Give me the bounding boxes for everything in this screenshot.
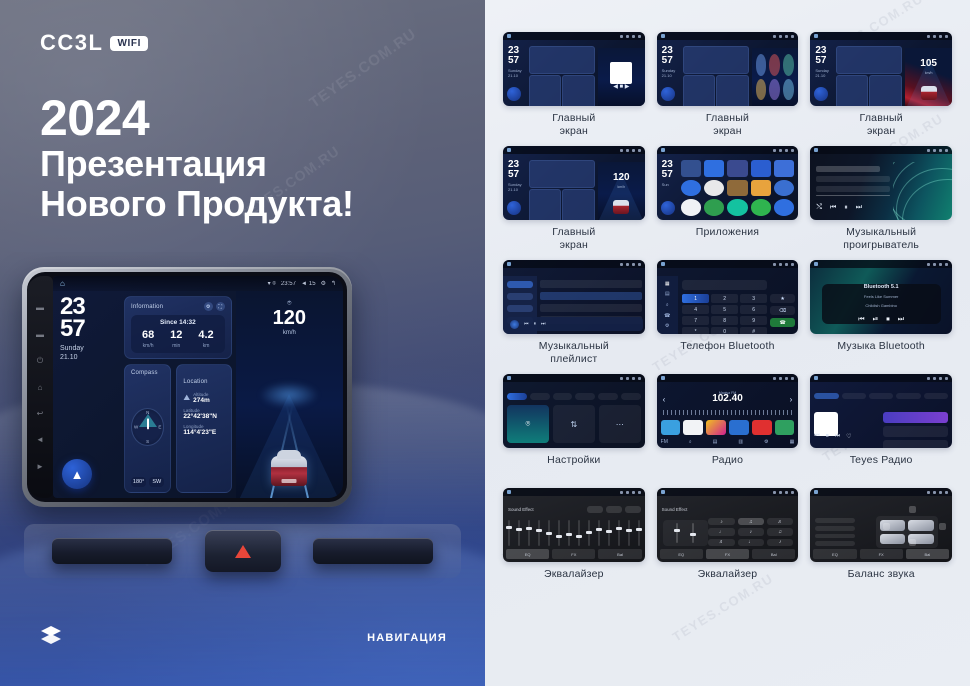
location-title: Location: [183, 379, 207, 385]
dial-key: 5: [711, 305, 738, 314]
clock-date: Sunday21.10: [662, 68, 676, 78]
frequency-scale[interactable]: [663, 410, 793, 415]
eq-icon: ▥: [738, 439, 743, 445]
clock-widget: 2357: [662, 46, 673, 65]
dial-key: 7: [682, 316, 709, 325]
clock-widget: 2357: [662, 160, 673, 179]
stop-icon: ⏹: [826, 433, 829, 440]
rail-button-mode[interactable]: ▬: [35, 330, 46, 339]
option-right: [815, 541, 855, 546]
status-bar: [503, 488, 645, 496]
next-icon: ⏭: [856, 204, 862, 212]
screenshot-gallery: TEYES.COM.RU TEYES.COM.RU TEYES.COM.RU T…: [485, 0, 970, 686]
head-unit-screen[interactable]: ⌂ ▾ ⌾ 23:57 ◄15 ⚙ ↰ 23 57: [53, 276, 343, 498]
caption: Музыка Bluetooth: [837, 340, 925, 368]
tab-eq: EQ: [506, 549, 549, 559]
player-controls[interactable]: ⤭⏮ ⏸⏭: [816, 204, 862, 212]
speed-unit: km/h: [283, 330, 296, 336]
car-model-3d: [271, 456, 307, 486]
contacts-icon: ▤: [665, 291, 670, 297]
volume-up-icon[interactable]: ►: [35, 462, 46, 471]
bluetooth-player-card: Bluetooth 5.1 Feels Like Summer Childish…: [822, 284, 941, 324]
clock-date: 21.10: [60, 354, 118, 363]
home-widgets: 23 57 Sunday 21.10 ▲ Informatio: [53, 291, 236, 498]
sidebar-item: [507, 305, 533, 312]
tab-eq: EQ: [813, 549, 856, 559]
bluetooth-version: Bluetooth 5.1: [864, 284, 899, 290]
tab-effects: FX: [552, 549, 595, 559]
product-logo: CC3L WIFI: [40, 30, 148, 56]
caption: Главныйэкран: [552, 112, 595, 140]
navigation-arrow-icon: [814, 87, 828, 101]
thumbnail-equalizer-bands[interactable]: Sound Effect: [503, 488, 645, 562]
back-arrow-icon[interactable]: ↰: [331, 280, 336, 287]
expand-icon[interactable]: ⛶: [216, 302, 225, 311]
dial-pad[interactable]: 1 2 3 4 5 6 7 8 9 * 0 #: [682, 294, 767, 334]
track-artist: Childish Gambino: [865, 303, 897, 308]
tab-eq: EQ: [660, 549, 703, 559]
list-item: [540, 292, 642, 300]
dial-key: 3: [740, 294, 767, 303]
thumbnail-settings[interactable]: ⌾ ⇅ ⋯: [503, 374, 645, 448]
preset-station: [775, 420, 795, 435]
screen-body: 23 57 Sunday 21.10 ▲ Informatio: [53, 291, 343, 498]
arrow-right-icon[interactable]: [939, 523, 946, 530]
clock-date: Sunday21.10: [508, 68, 522, 78]
trip-stat: 12 min: [170, 330, 182, 349]
list-item: [883, 440, 948, 448]
dial-key: *: [682, 327, 709, 334]
gallery-item[interactable]: 2357 Sunday21.10 105 km/h: [810, 32, 952, 140]
trip-stat: 4.2 km: [198, 330, 213, 349]
altitude-block: Altitude 274m: [193, 392, 210, 404]
navigation-label: НАВИГАЦИЯ: [367, 632, 447, 644]
trip-stats: 68 km/h 12 min: [134, 330, 222, 349]
home-icon[interactable]: ⌂: [60, 279, 65, 288]
list-item: [883, 426, 948, 437]
power-icon[interactable]: ⏻: [35, 356, 46, 365]
band-slider: [588, 520, 590, 546]
rail-button-menu[interactable]: ▬: [35, 303, 46, 312]
preset-button: [606, 506, 622, 513]
thumbnail-playlist[interactable]: ⏮ ⏸ ⏭: [503, 260, 645, 334]
information-actions: ⚙ ⛶: [204, 302, 225, 311]
volume-down-icon[interactable]: ◄: [35, 435, 46, 444]
information-card: [683, 46, 749, 74]
compass-card: [529, 189, 561, 220]
gallery-item[interactable]: 2357 Sunday21.10 120 km/h: [503, 146, 645, 254]
status-bar: [810, 488, 952, 496]
status-bar: [657, 374, 799, 382]
dialpad-icon: ▦: [665, 281, 670, 287]
track-title: Feels Like Summer: [864, 294, 898, 299]
compass-values: 180° SW: [131, 477, 164, 487]
tab-balance: Bal: [598, 549, 641, 559]
gallery-item[interactable]: Sound Effect ♪ ♫ ♬ ♩ ♪ ♫ ♬: [657, 488, 799, 596]
gear-icon[interactable]: ⚙: [321, 280, 326, 287]
sidebar-item: [507, 281, 533, 288]
compass-west: W: [134, 424, 138, 429]
equalizer-title: Sound Effect: [508, 507, 534, 512]
back-arrow-icon[interactable]: ↩: [35, 409, 46, 418]
now-playing: ⏮⏹ ⏭♡: [814, 412, 882, 444]
band-slider: [628, 520, 630, 546]
status-bar: [810, 32, 952, 40]
band-slider: [518, 520, 520, 546]
preset-station: [752, 420, 772, 435]
settings-tiles[interactable]: ⌾ ⇅ ⋯: [507, 405, 641, 443]
compass-card: [529, 75, 561, 106]
navigation-arrow-icon[interactable]: ▲: [62, 459, 92, 489]
gallery-item[interactable]: EQ FX Bal Баланс звука: [810, 488, 952, 596]
speaker-front-right: [908, 520, 934, 531]
sidebar-item: [507, 293, 533, 300]
speaker-rear-left: [880, 534, 906, 545]
thumbnail-bluetooth-phone[interactable]: ▦ ▤ ⌕ ☎ ⚙ 1 2 3 4 5 6: [657, 260, 799, 334]
gallery-item[interactable]: ⤭⏮ ⏸⏭ Музыкальныйпроигрыватель: [810, 146, 952, 254]
band-slider: [608, 520, 610, 546]
hero-panel: TEYES.COM.RU TEYES.COM.RU TEYES.COM.RU T…: [0, 0, 485, 686]
stat-unit: km: [198, 343, 213, 349]
compass-needle: [147, 418, 149, 429]
compass-south: S: [146, 439, 149, 444]
tab-display: [553, 393, 573, 400]
location-card: [716, 75, 749, 106]
caption: Приложения: [696, 226, 759, 254]
caption: Настройки: [547, 454, 600, 482]
compass-bearing: SW: [149, 477, 164, 487]
volume-indicator[interactable]: ◄15: [301, 281, 316, 287]
tab-system: [575, 393, 595, 400]
layers-icon: [40, 625, 62, 650]
teyes-tabs[interactable]: [814, 393, 948, 399]
road-glow: [259, 382, 319, 408]
caption: Телефон Bluetooth: [680, 340, 774, 368]
list-item: [816, 166, 879, 172]
speed-unit: km/h: [925, 71, 933, 75]
band-slider: [538, 520, 540, 546]
compass-north: N: [146, 410, 149, 415]
next-icon: ⏭: [541, 321, 546, 327]
preset-grid[interactable]: ♪ ♫ ♬ ♩ ♪ ♫ ♬ ♩ ♪: [708, 518, 793, 546]
preset-station: [706, 420, 726, 435]
information-header: Information ⚙ ⛶: [131, 302, 225, 311]
preset-button: [587, 506, 603, 513]
hazard-button[interactable]: [205, 530, 281, 572]
information-title: Information: [131, 304, 163, 310]
widget-cards: Information ⚙ ⛶ Since 14:32: [124, 296, 232, 493]
preset-station: [729, 420, 749, 435]
compass-card: [683, 75, 715, 106]
preset-tile: ♩: [708, 528, 734, 535]
preset-tile: ♩: [738, 539, 764, 546]
band-slider: [548, 520, 550, 546]
equalizer-toolbar[interactable]: EQ FX Bal: [506, 549, 642, 559]
thumbnail-home-screen[interactable]: 2357 Sunday21.10 ◀ ■ ▶: [503, 32, 645, 106]
gear-icon[interactable]: ⚙: [204, 302, 213, 311]
gallery-item[interactable]: 2357 Sunday21.10: [657, 32, 799, 140]
stop-icon: ⏹: [886, 316, 890, 324]
caption: Главныйэкран: [552, 226, 595, 254]
band-slider: [568, 520, 570, 546]
track-list: [816, 166, 890, 196]
clock-widget: 2357: [508, 46, 519, 65]
home-icon[interactable]: ⌂: [35, 383, 46, 392]
preset-tile: ♪: [738, 528, 764, 535]
headline-line1: Презентация: [40, 144, 354, 184]
speed-value: 120: [273, 308, 306, 328]
speed-unit: km/h: [617, 185, 625, 189]
band-slider: [598, 520, 600, 546]
shuffle-icon: ⤭: [816, 204, 822, 212]
backspace-icon: ⌫: [770, 306, 796, 315]
thumbnail-music-player[interactable]: ⤭⏮ ⏸⏭: [810, 146, 952, 220]
equalizer-presets[interactable]: [587, 506, 641, 513]
status-bar: [810, 374, 952, 382]
gallery-item[interactable]: 2357 Sunday21.10 ◀ ■ ▶ Главныйэкран: [503, 32, 645, 140]
prev-icon: ⏮: [524, 321, 529, 327]
preset-tile: ♬: [767, 518, 793, 525]
navigation-arrow-icon: [507, 87, 521, 101]
status-bar: [657, 32, 799, 40]
prev-icon: ⏮: [830, 204, 836, 212]
pause-icon: ⏸: [534, 321, 537, 327]
equalizer-toolbar[interactable]: EQ FX Bal: [660, 549, 796, 559]
level-sliders[interactable]: [663, 520, 708, 546]
band-sliders[interactable]: [508, 520, 640, 546]
caption: Музыкальныйплейлист: [539, 340, 609, 368]
band-slider: [558, 520, 560, 546]
call-button-icon: ☎: [770, 318, 796, 327]
car-model-3d: [613, 200, 629, 214]
status-bar: [810, 260, 952, 268]
clock-minutes: 57: [60, 318, 118, 340]
stat-unit: min: [170, 343, 182, 349]
clock-widget: 2357: [815, 46, 826, 65]
thumbnail-equalizer-presets[interactable]: Sound Effect ♪ ♫ ♬ ♩ ♪ ♫ ♬: [657, 488, 799, 562]
prev-icon: ⏮: [858, 316, 864, 324]
clock-date: Sunday21.10: [508, 182, 522, 192]
tab-balance: Bal: [752, 549, 795, 559]
favorite-icon: ♡: [846, 433, 851, 440]
thumbnail-teyes-radio[interactable]: ⏮⏹ ⏭♡: [810, 374, 952, 448]
thumbnail-radio[interactable]: Magiya FM 102.40 ‹ ›: [657, 374, 799, 448]
thumbnail-home-screen[interactable]: 2357 Sunday21.10: [657, 32, 799, 106]
phone-sidebar[interactable]: ▦ ▤ ⌕ ☎ ⚙: [657, 276, 678, 334]
information-card: [529, 46, 595, 74]
preset-tile: ♪: [767, 539, 793, 546]
status-bar: [503, 146, 645, 154]
compass-heading: 180°: [131, 477, 146, 487]
equalizer-title: Sound Effect: [662, 507, 688, 512]
status-time: 23:57: [281, 281, 296, 287]
arrow-down-icon[interactable]: [909, 539, 916, 546]
mini-player[interactable]: ⏮ ⏸ ⏭: [505, 317, 643, 331]
preset-button: [625, 506, 641, 513]
media-panel: ◀ ■ ▶: [598, 48, 645, 106]
level-slider: [676, 523, 678, 543]
hazard-triangle-icon: [235, 545, 251, 558]
dial-key: 8: [711, 316, 738, 325]
altitude-value: 274m: [193, 397, 210, 404]
radio-frequency: 102.40: [657, 393, 799, 404]
list-item: [883, 412, 948, 423]
stat-value: 12: [170, 330, 182, 341]
list-icon: ▤: [713, 439, 718, 445]
clock-widget: 2357: [508, 160, 519, 179]
list-item: [816, 176, 890, 182]
latitude-value: 22°42'38"N: [183, 413, 224, 420]
balance-toolbar[interactable]: EQ FX Bal: [813, 549, 949, 559]
apps-grid-panel: [752, 48, 799, 106]
status-bar: [503, 374, 645, 382]
thumbnail-sound-balance[interactable]: EQ FX Bal: [810, 488, 952, 562]
tab-effects: FX: [706, 549, 749, 559]
preset-tile: ♫: [738, 518, 764, 525]
preset-station: [661, 420, 681, 435]
dial-key: 2: [711, 294, 738, 303]
gear-icon: ⚙: [764, 439, 768, 445]
tab-wlan: [507, 393, 527, 400]
compass-east: E: [158, 424, 161, 429]
compass-dial-wrap: N E S W: [131, 376, 164, 477]
clock-date: Sun: [662, 182, 669, 187]
information-card: [529, 160, 595, 188]
tab-about: [598, 393, 618, 400]
traffic-icon: ⇅: [553, 405, 595, 443]
stat-unit: km/h: [142, 343, 154, 349]
thumbnail-home-screen[interactable]: 2357 Sunday21.10 120 km/h: [503, 146, 645, 220]
dial-key: 4: [682, 305, 709, 314]
tab-countries: [869, 393, 893, 399]
dial-key: 1: [682, 294, 709, 303]
list-item: [540, 304, 642, 312]
dashboard-photo: ▬ ▬ ⏻ ⌂ ↩ ◄ ► ⌂ ▾ ⌾ 23:57 ◄15: [0, 252, 485, 686]
caption: Музыкальныйпроигрыватель: [843, 226, 919, 254]
gallery-item[interactable]: Magiya FM 102.40 ‹ ›: [657, 374, 799, 482]
tab-genres: [842, 393, 866, 399]
stat-value: 4.2: [198, 330, 213, 341]
status-bar: [657, 488, 799, 496]
altitude-row: ⛰ Altitude 274m: [183, 392, 224, 404]
balance-pad[interactable]: [876, 516, 938, 548]
thumbnail-apps[interactable]: 2357 Sun: [657, 146, 799, 220]
location-card: [562, 75, 595, 106]
head-unit-inner: ▬ ▬ ⏻ ⌂ ↩ ◄ ► ⌂ ▾ ⌾ 23:57 ◄15: [27, 272, 347, 502]
compass-card: [836, 75, 868, 106]
tab-sound: [530, 393, 550, 400]
gallery-item[interactable]: 2357 Sun: [657, 146, 799, 254]
radio-toolbar[interactable]: FM⌕ ▤▥ ⚙▦: [661, 439, 795, 445]
search-icon: ⌕: [666, 302, 669, 308]
navigation-preview[interactable]: ⌾ 120 km/h: [236, 291, 343, 498]
car-plate: [282, 479, 297, 483]
band-slider: [578, 520, 580, 546]
wifi-icon: ⌾: [507, 405, 549, 443]
station-list[interactable]: [883, 412, 948, 444]
thumbnail-bluetooth-music[interactable]: Bluetooth 5.1 Feels Like Summer Childish…: [810, 260, 952, 334]
gallery-item[interactable]: ▦ ▤ ⌕ ☎ ⚙ 1 2 3 4 5 6: [657, 260, 799, 368]
band-slider: [618, 520, 620, 546]
tab-effects: FX: [860, 549, 903, 559]
dial-key: 0: [711, 327, 738, 334]
thumbnail-home-screen[interactable]: 2357 Sunday21.10 105 km/h: [810, 32, 952, 106]
option-left: [815, 534, 855, 539]
preset-station: [683, 420, 703, 435]
player-controls[interactable]: ⏮⏯ ⏹⏭: [858, 316, 904, 324]
gallery-item[interactable]: Bluetooth 5.1 Feels Like Summer Childish…: [810, 260, 952, 368]
location-card: [562, 189, 595, 220]
preset-grid[interactable]: [661, 420, 795, 435]
status-bar: ⌂ ▾ ⌾ 23:57 ◄15 ⚙ ↰: [53, 276, 343, 291]
speed-value: 105: [920, 58, 937, 69]
clock-widget: 23 57 Sunday 21.10 ▲: [60, 296, 118, 493]
navigation-preview: 105 km/h: [905, 48, 952, 106]
compass-dial: N E S W: [131, 408, 164, 446]
caption: Главныйэкран: [860, 112, 903, 140]
gallery-item[interactable]: ⌾ ⇅ ⋯ Настройки: [503, 374, 645, 482]
logo-wifi-badge: WIFI: [110, 36, 148, 51]
logo-model: CC3L: [40, 30, 103, 56]
tab-favorites: [896, 393, 920, 399]
caption: Баланс звука: [848, 568, 915, 596]
dial-key: 6: [740, 305, 767, 314]
navigation-preview: 120 km/h: [598, 162, 645, 220]
balance-options[interactable]: [815, 518, 855, 546]
phone-number-input[interactable]: [682, 280, 767, 290]
progress-bar[interactable]: [816, 195, 890, 197]
tab-more: [621, 393, 641, 400]
arrow-left-icon[interactable]: [883, 523, 890, 530]
phone-actions[interactable]: ★ ⌫ ☎: [770, 294, 796, 327]
band-slider: [508, 520, 510, 546]
gear-icon: ⚙: [665, 323, 669, 329]
mountain-icon: ⛰: [183, 393, 190, 403]
band-slider: [638, 520, 640, 546]
gallery-item[interactable]: Sound Effect: [503, 488, 645, 596]
settings-tabs[interactable]: [507, 393, 641, 400]
preset-tile: ♪: [708, 518, 734, 525]
status-bar: [503, 32, 645, 40]
navigation-arrow-icon: [507, 201, 521, 215]
clock-date: Sunday21.10: [815, 68, 829, 78]
caption: Главныйэкран: [706, 112, 749, 140]
air-vent-left: [52, 538, 172, 564]
preset-tile: ♬: [708, 539, 734, 546]
gallery-item[interactable]: ⏮⏹ ⏭♡ Teyes Радио: [810, 374, 952, 482]
prev-station-icon[interactable]: ‹: [663, 395, 666, 404]
next-station-icon[interactable]: ›: [790, 395, 793, 404]
air-vent-right: [313, 538, 433, 564]
list-item: [816, 186, 890, 192]
album-art: [510, 320, 519, 329]
wifi-icon: ▾ ⌾: [268, 280, 276, 288]
player-controls[interactable]: ⏮⏹ ⏭♡: [814, 433, 851, 440]
compass-card[interactable]: Compass N E S W: [124, 364, 171, 493]
status-bar: [810, 146, 952, 154]
navigation-arrow-icon: [661, 87, 675, 101]
caption: Эквалайзер: [544, 568, 604, 596]
gallery-item[interactable]: ⏮ ⏸ ⏭ Музыкальныйплейлист: [503, 260, 645, 368]
play-pause-icon: ⏯: [873, 316, 879, 324]
tab-search: [924, 393, 948, 399]
information-card[interactable]: Information ⚙ ⛶ Since 14:32: [124, 296, 232, 359]
hardware-button-rail[interactable]: ▬ ▬ ⏻ ⌂ ↩ ◄ ►: [27, 276, 53, 498]
status-bar: [657, 260, 799, 268]
location-card[interactable]: Location ⛰ Altitude 274m: [176, 364, 231, 493]
option-rear: [815, 526, 855, 531]
arrow-up-icon[interactable]: [909, 506, 916, 513]
